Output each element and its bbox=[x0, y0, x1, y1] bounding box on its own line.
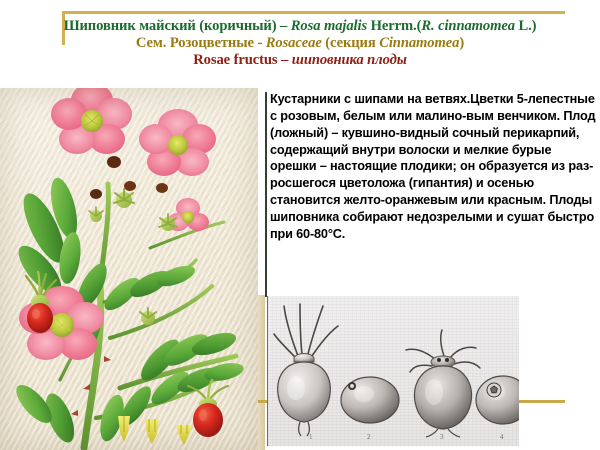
figure-artwork bbox=[268, 296, 519, 446]
figure-label-4: 4 bbox=[500, 433, 504, 441]
title-drug-russian: шиповника плоды bbox=[292, 52, 407, 68]
figure-label-3: 3 bbox=[440, 433, 444, 441]
title-line-family: Сем. Розоцветные - Rosaceae (секция Cinn… bbox=[0, 35, 600, 52]
title-species-suffix: L.) bbox=[515, 18, 537, 34]
title-block: Шиповник майский (коричный) – Rosa majal… bbox=[0, 18, 600, 69]
text-left-rule bbox=[265, 92, 267, 297]
specimen-4 bbox=[476, 376, 519, 424]
title-line-species: Шиповник майский (коричный) – Rosa majal… bbox=[0, 18, 600, 35]
specimen-1 bbox=[274, 304, 338, 436]
title-species-synonym: R. cinnamomea bbox=[421, 18, 515, 34]
title-line-drug: Rosae fructus – шиповника плоды bbox=[0, 52, 600, 69]
figure-right-gold-rule bbox=[517, 400, 565, 403]
title-species-author: Herrm.( bbox=[367, 18, 421, 34]
title-drug-latin: Rosae fructus – bbox=[193, 52, 292, 68]
rose-hip-specimens-figure: 1 2 3 4 bbox=[267, 296, 519, 446]
description-text: Кустарники с шипами на ветвях.Цветки 5-л… bbox=[270, 91, 598, 243]
title-family-section-latin: Cinnamomea bbox=[379, 35, 459, 51]
title-family-suffix: ) bbox=[459, 35, 464, 51]
title-species-prefix: Шиповник майский (коричный) – bbox=[64, 18, 291, 34]
specimen-2 bbox=[341, 377, 399, 423]
botanical-illustration bbox=[0, 88, 258, 450]
title-top-rule bbox=[62, 11, 565, 14]
title-family-latin: Rosaceae bbox=[266, 35, 322, 51]
figure-label-1: 1 bbox=[309, 433, 313, 441]
title-family-section-prefix: (секция bbox=[322, 35, 380, 51]
plate-vignette bbox=[0, 88, 258, 450]
figure-left-accent-bar bbox=[258, 295, 265, 450]
title-species-latin: Rosa majalis bbox=[291, 18, 367, 34]
title-family-prefix: Сем. Розоцветные - bbox=[136, 35, 266, 51]
slide-canvas: Шиповник майский (коричный) – Rosa majal… bbox=[0, 0, 600, 450]
figure-label-2: 2 bbox=[367, 433, 371, 441]
specimen-3 bbox=[406, 330, 480, 437]
